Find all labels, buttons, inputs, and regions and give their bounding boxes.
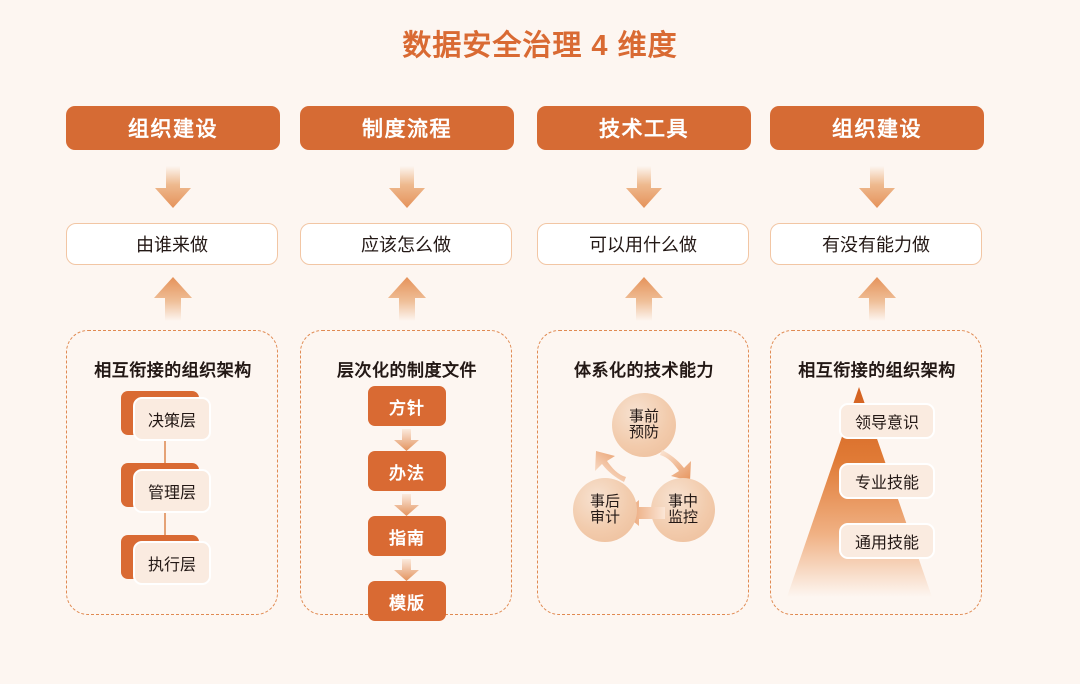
skill-card[interactable]: 领导意识 xyxy=(839,403,935,439)
cycle-node-audit[interactable]: 事后 审计 xyxy=(573,478,637,542)
cycle-node-line1: 事中 xyxy=(668,494,698,511)
question-box-2: 应该怎么做 xyxy=(300,223,512,265)
arrow-down-icon-small xyxy=(394,559,419,581)
question-box-1: 由谁来做 xyxy=(66,223,278,265)
column-header-1[interactable]: 组织建设 xyxy=(66,106,280,150)
org-layer-item[interactable]: 决策层 xyxy=(121,391,205,439)
org-layer-item[interactable]: 管理层 xyxy=(121,463,205,511)
org-layer-label: 管理层 xyxy=(133,469,211,513)
panel-title-1: 相互衔接的组织架构 xyxy=(67,356,279,381)
dimension-columns: 组织建设 由谁来做 相互衔接的组织架构 xyxy=(0,0,1080,684)
panel-title-4: 相互衔接的组织架构 xyxy=(771,356,983,381)
arrow-up-icon-2 xyxy=(388,277,426,321)
arrow-down-icon-small xyxy=(394,429,419,451)
arrow-down-icon-3 xyxy=(626,166,662,208)
arrow-down-icon-small xyxy=(394,494,419,516)
capability-pyramid: 领导意识 专业技能 通用技能 xyxy=(771,381,983,616)
dimension-column-2: 制度流程 应该怎么做 层次化的制度文件 方针 办法 指 xyxy=(300,0,514,684)
cycle-node-line2: 监控 xyxy=(668,510,698,527)
policy-box[interactable]: 方针 xyxy=(368,386,446,426)
panel-3: 体系化的技术能力 事前 预防 xyxy=(537,330,749,615)
dimension-column-4: 组织建设 有没有能力做 相互衔接的组织架构 xyxy=(770,0,984,684)
panel-4: 相互衔接的组织架构 领导意识 专业技能 通用技能 xyxy=(770,330,982,615)
skill-card[interactable]: 专业技能 xyxy=(839,463,935,499)
org-layer-label: 执行层 xyxy=(133,541,211,585)
arrow-up-icon-1 xyxy=(154,277,192,321)
cycle-arrow-clockwise-3 xyxy=(588,446,628,486)
org-layer-item[interactable]: 执行层 xyxy=(121,535,205,583)
cycle-node-line2: 审计 xyxy=(590,510,620,527)
panel-1: 相互衔接的组织架构 决策层 管理层 执行层 xyxy=(66,330,278,615)
column-header-3[interactable]: 技术工具 xyxy=(537,106,751,150)
arrow-down-icon-1 xyxy=(155,166,191,208)
cycle-node-line2: 预防 xyxy=(629,425,659,442)
question-box-3: 可以用什么做 xyxy=(537,223,749,265)
org-layer-stack: 决策层 管理层 执行层 xyxy=(67,391,279,616)
cycle-node-line1: 事前 xyxy=(629,409,659,426)
arrow-up-icon-4 xyxy=(858,277,896,321)
arrow-down-icon-2 xyxy=(389,166,425,208)
capability-cycle: 事前 预防 xyxy=(538,383,750,613)
policy-box[interactable]: 指南 xyxy=(368,516,446,556)
dimension-column-3: 技术工具 可以用什么做 体系化的技术能力 事前 预防 xyxy=(537,0,751,684)
dimension-column-1: 组织建设 由谁来做 相互衔接的组织架构 xyxy=(66,0,280,684)
arrow-up-icon-3 xyxy=(625,277,663,321)
column-header-4[interactable]: 组织建设 xyxy=(770,106,984,150)
cycle-node-line1: 事后 xyxy=(590,494,620,511)
panel-title-2: 层次化的制度文件 xyxy=(301,356,513,381)
panel-2: 层次化的制度文件 方针 办法 指南 模版 xyxy=(300,330,512,615)
panel-title-3: 体系化的技术能力 xyxy=(538,356,750,381)
question-box-4: 有没有能力做 xyxy=(770,223,982,265)
policy-box[interactable]: 办法 xyxy=(368,451,446,491)
arrow-down-icon-4 xyxy=(859,166,895,208)
skill-card[interactable]: 通用技能 xyxy=(839,523,935,559)
org-layer-label: 决策层 xyxy=(133,397,211,441)
column-header-2[interactable]: 制度流程 xyxy=(300,106,514,150)
policy-box[interactable]: 模版 xyxy=(368,581,446,621)
